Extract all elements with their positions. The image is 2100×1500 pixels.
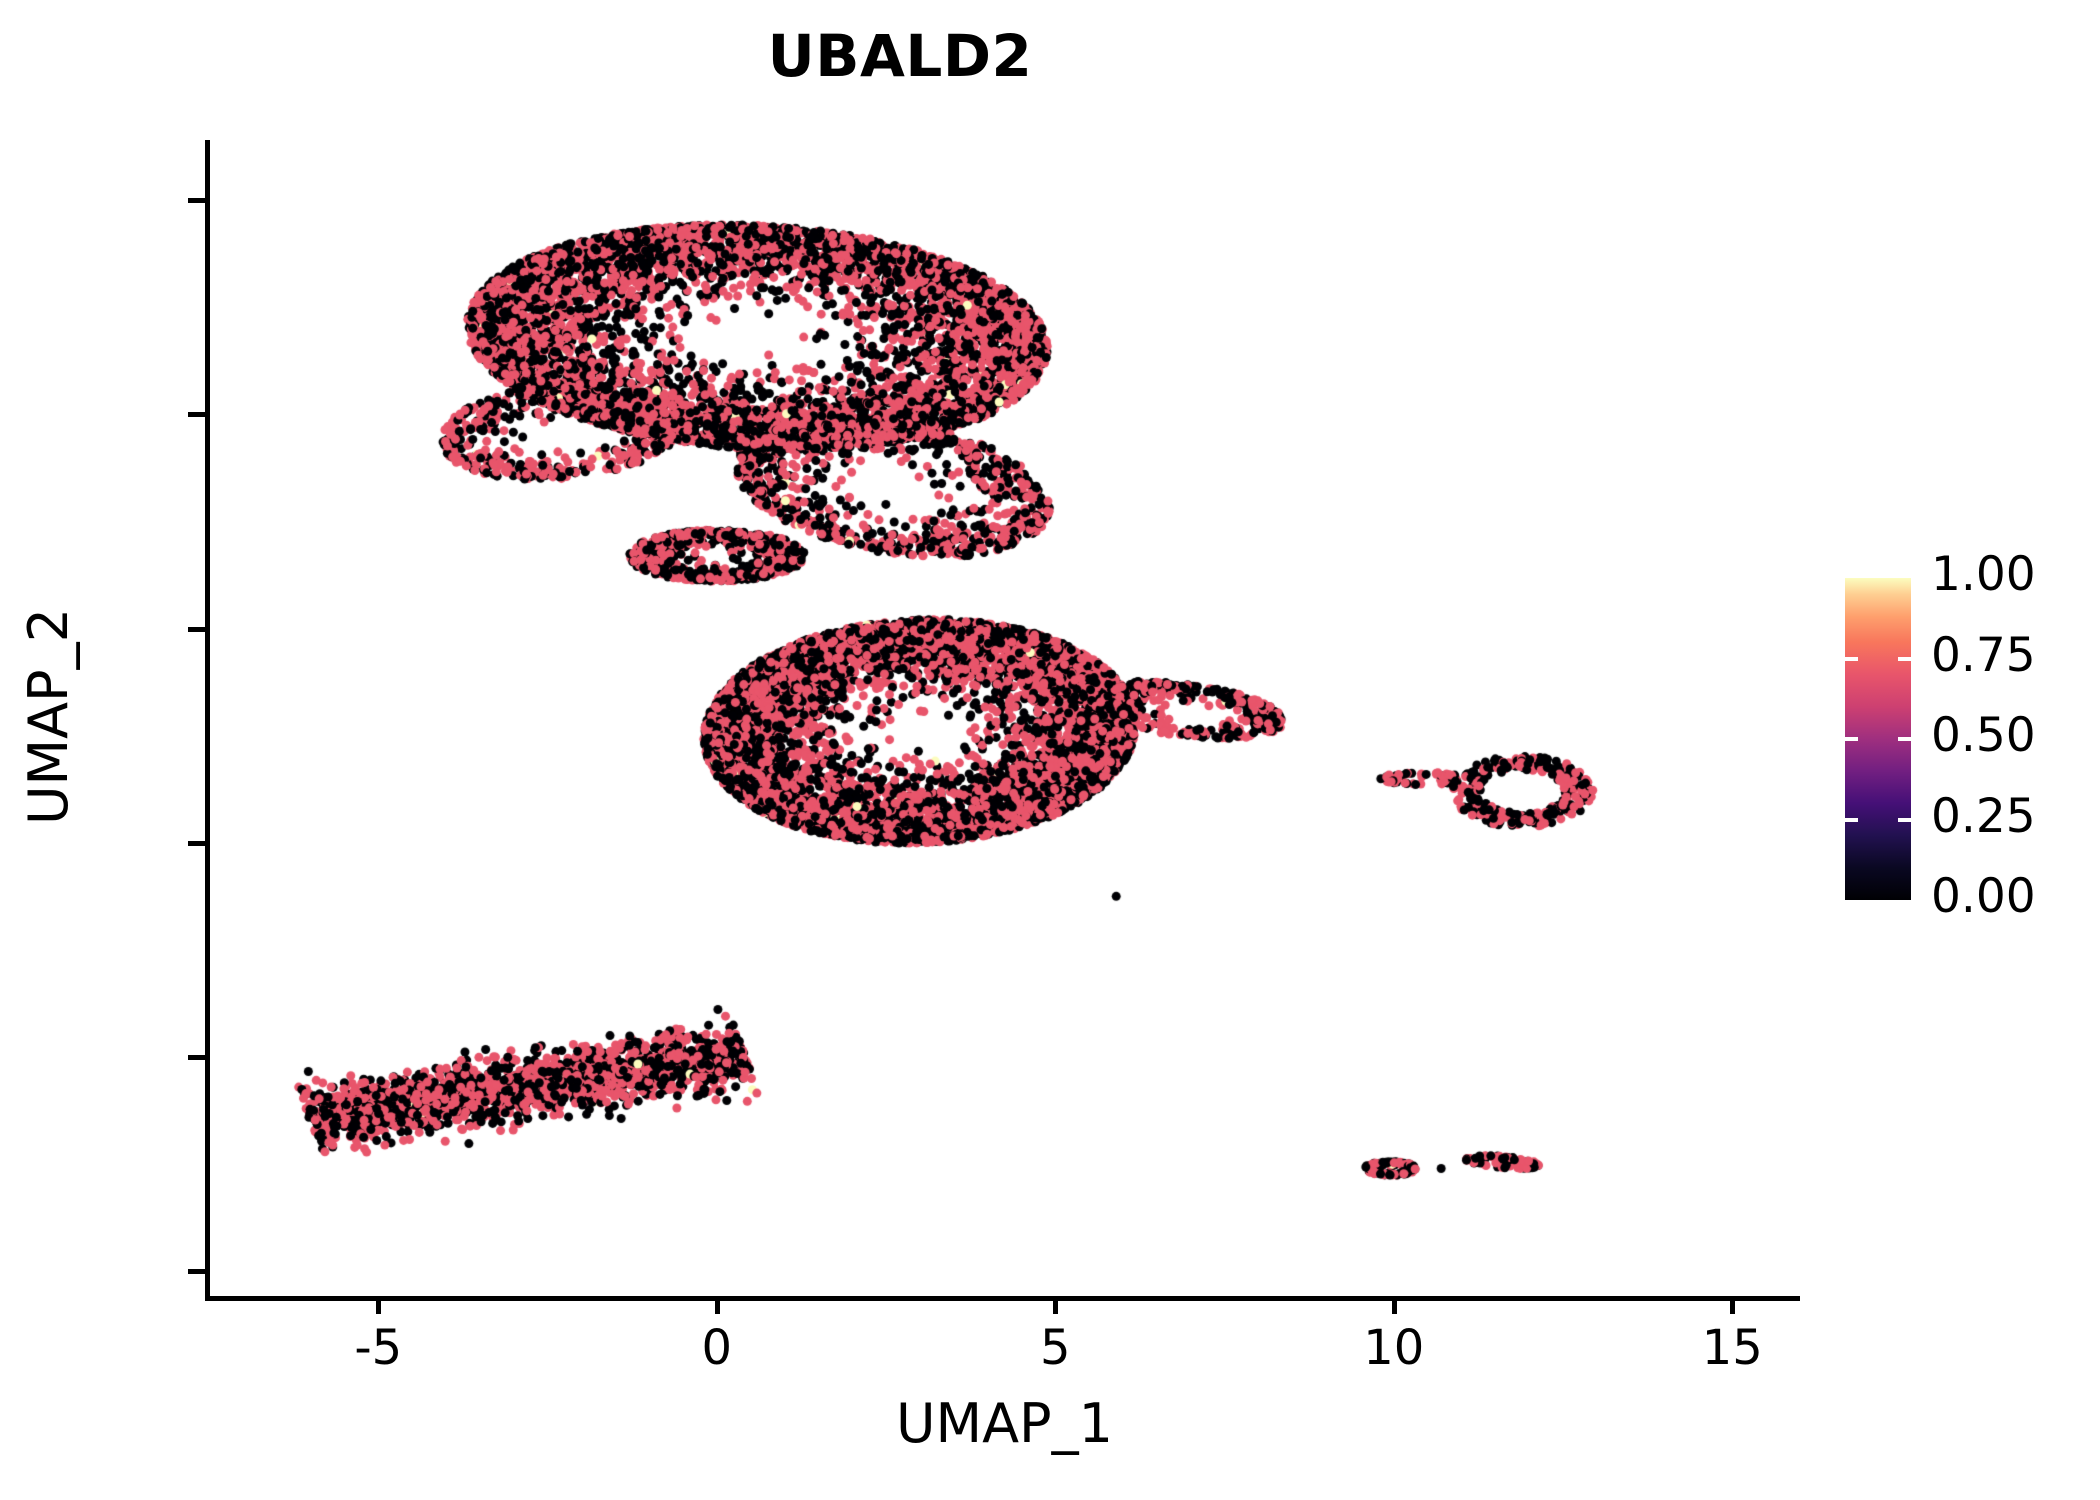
y-tick-mark [188, 412, 205, 417]
y-tick-mark [188, 1269, 205, 1274]
x-tick-label: 0 [637, 1320, 797, 1376]
x-tick-label: 10 [1314, 1320, 1474, 1376]
colorbar-tick-label: 0.25 [1931, 789, 2036, 844]
x-tick-label: 15 [1652, 1320, 1812, 1376]
colorbar-tick-label: 1.00 [1931, 547, 2036, 602]
x-tick-mark [376, 1297, 381, 1314]
colorbar-tick-label: 0.75 [1931, 628, 2036, 683]
colorbar-tick-mark [1845, 737, 1858, 741]
colorbar-tick-label: 0.50 [1931, 708, 2036, 763]
y-tick-mark [188, 841, 205, 846]
y-tick-mark [188, 198, 205, 203]
umap-feature-plot: UBALD2 -505101520 -5051015 UMAP_1 UMAP_2… [0, 0, 2100, 1500]
y-tick-mark [188, 627, 205, 632]
x-tick-mark [1730, 1297, 1735, 1314]
x-tick-mark [715, 1297, 720, 1314]
x-tick-label: -5 [298, 1320, 458, 1376]
y-axis-label: UMAP_2 [17, 138, 80, 1295]
plot-axes-area: -505101520 -5051015 [209, 140, 1800, 1297]
x-tick-mark [1053, 1297, 1058, 1314]
x-axis-label: UMAP_1 [209, 1392, 1800, 1455]
colorbar: 0.000.250.500.751.00 [1845, 578, 2085, 900]
y-axis-spine [205, 140, 210, 1297]
colorbar-tick-mark [1898, 737, 1911, 741]
scatter-point-layer [209, 140, 1800, 1297]
x-tick-mark [1392, 1297, 1397, 1314]
x-tick-label: 5 [975, 1320, 1135, 1376]
colorbar-tick-mark [1898, 818, 1911, 822]
colorbar-tick-label: 0.00 [1931, 869, 2036, 924]
colorbar-tick-mark [1898, 657, 1911, 661]
colorbar-tick-mark [1845, 657, 1858, 661]
y-tick-mark [188, 1055, 205, 1060]
x-axis-spine [205, 1296, 1800, 1301]
colorbar-tick-mark [1845, 818, 1858, 822]
page-title: UBALD2 [0, 22, 1800, 90]
